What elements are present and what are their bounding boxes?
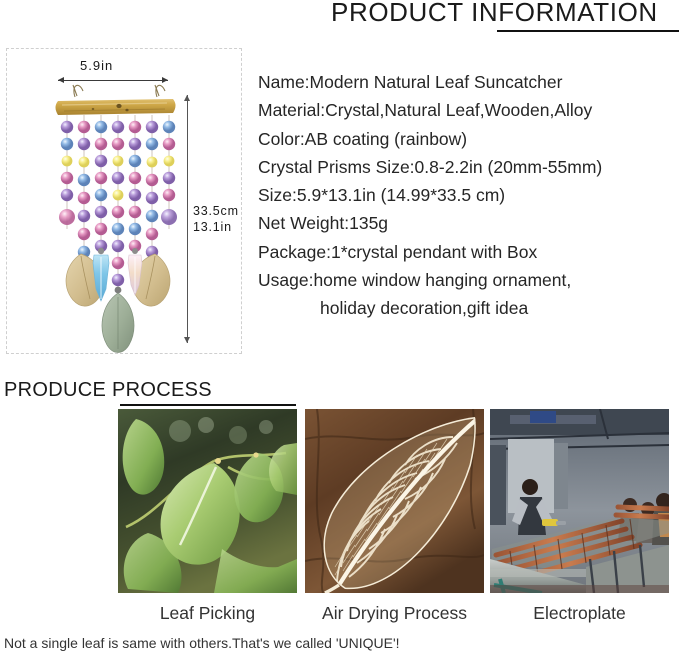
width-dimension-label: 5.9in (80, 58, 113, 73)
product-spec-line: Name:Modern Natural Leaf Suncatcher (258, 68, 679, 96)
product-spec-line: holiday decoration,gift idea (258, 294, 679, 322)
height-dimension-cm: 33.5cm (193, 203, 239, 219)
product-spec-line: Color:AB coating (rainbow) (258, 125, 679, 153)
product-spec-line: Crystal Prisms Size:0.8-2.2in (20mm-55mm… (258, 153, 679, 181)
product-spec-line: Usage:home window hanging ornament, (258, 266, 679, 294)
product-spec-list: Name:Modern Natural Leaf SuncatcherMater… (258, 68, 679, 323)
produce-process-heading: PRODUCE PROCESS (4, 379, 212, 402)
suncatcher-product-illustration (7, 49, 243, 355)
process-caption-air-drying: Air Drying Process (305, 603, 484, 624)
process-caption-leaf-picking: Leaf Picking (118, 603, 297, 624)
width-dimension-line (58, 80, 168, 81)
product-image-panel (6, 48, 242, 354)
product-spec-line: Package:1*crystal pendant with Box (258, 238, 679, 266)
produce-process-underline (120, 404, 296, 406)
height-dimension-label: 33.5cm 13.1in (193, 203, 239, 235)
height-dimension-line (187, 95, 188, 343)
product-information-underline (497, 30, 679, 32)
process-caption-electroplate: Electroplate (490, 603, 669, 624)
process-photo-electroplate (490, 409, 669, 593)
product-information-heading: PRODUCT INFORMATION (331, 0, 658, 28)
footer-note: Not a single leaf is same with others.Th… (4, 635, 400, 651)
product-spec-line: Net Weight:135g (258, 209, 679, 237)
product-spec-line: Size:5.9*13.1in (14.99*33.5 cm) (258, 181, 679, 209)
product-spec-line: Material:Crystal,Natural Leaf,Wooden,All… (258, 96, 679, 124)
process-photo-air-drying (305, 409, 484, 593)
process-photo-leaf-picking (118, 409, 297, 593)
height-dimension-in: 13.1in (193, 219, 239, 235)
